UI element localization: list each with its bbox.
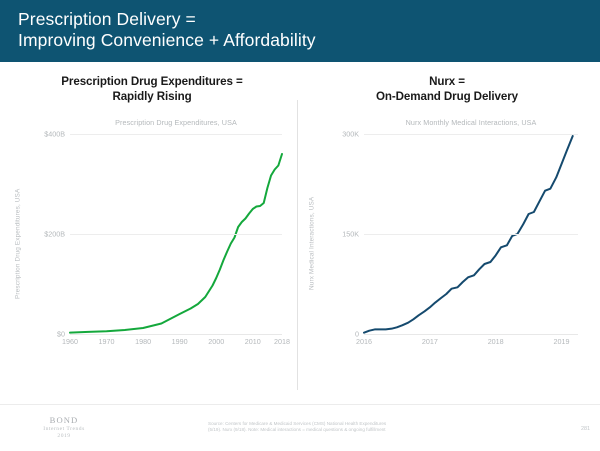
x-axis-tick: 2017 — [422, 337, 438, 346]
x-axis-tick: 2000 — [208, 337, 224, 346]
x-axis-tick: 2010 — [245, 337, 261, 346]
gridline-0 — [364, 334, 578, 335]
chart-left-caption: Prescription Drug Expenditures, USA — [70, 118, 282, 127]
slide-header: Prescription Delivery = Improving Conven… — [0, 0, 600, 62]
x-axis-tick: 2018 — [488, 337, 504, 346]
gridline-150k — [364, 234, 578, 235]
source-note-line-2: (5/19). Nurx (9/18). Note: Medical inter… — [208, 427, 508, 433]
y-axis-tick: 150K — [342, 230, 359, 239]
panel-divider — [297, 100, 298, 390]
source-note: Source: Centers for Medicare & Medicaid … — [208, 421, 508, 434]
panel-left-title: Prescription Drug Expenditures = Rapidly… — [8, 74, 296, 104]
panel-left-title-line-2: Rapidly Rising — [8, 89, 296, 104]
chart-right-y-axis-label: Nurx Medical Interactions, USA — [306, 146, 318, 341]
chart-right-caption: Nurx Monthly Medical Interactions, USA — [364, 118, 578, 127]
panel-prescription-drug-expenditures: Prescription Drug Expenditures = Rapidly… — [8, 62, 296, 392]
brand-logo: BOND Internet Trends 2019 — [18, 415, 110, 439]
gridline-400b — [70, 134, 282, 135]
x-axis-tick: 2016 — [356, 337, 372, 346]
slide-body: Prescription Drug Expenditures = Rapidly… — [0, 62, 600, 392]
y-axis-tick: $200B — [44, 230, 65, 239]
brand-subtitle: Internet Trends — [18, 426, 110, 432]
x-axis-tick: 2019 — [554, 337, 570, 346]
x-axis-tick: 1980 — [135, 337, 151, 346]
panel-right-title: Nurx = On-Demand Drug Delivery — [302, 74, 592, 104]
x-axis-tick: 1970 — [99, 337, 115, 346]
gridline-300k — [364, 134, 578, 135]
chart-prescription-drug-expenditures: Prescription Drug Expenditures, USA Pres… — [8, 118, 296, 378]
brand-year: 2019 — [18, 433, 110, 439]
x-axis-tick: 1960 — [62, 337, 78, 346]
panel-nurx-medical-interactions: Nurx = On-Demand Drug Delivery Nurx Mont… — [302, 62, 592, 392]
gridline-0 — [70, 334, 282, 335]
gridline-200b — [70, 234, 282, 235]
y-axis-tick: $400B — [44, 130, 65, 139]
chart-left-y-axis-label: Prescription Drug Expenditures, USA — [12, 146, 24, 341]
brand-name: BOND — [18, 415, 110, 425]
page-number: 281 — [581, 426, 590, 432]
panel-right-title-line-1: Nurx = — [302, 74, 592, 89]
chart-right-plot-area: 0150K300K2016201720182019 — [364, 134, 578, 334]
chart-left-plot-area: $0$200B$400B1960197019801990200020102018 — [70, 134, 282, 334]
slide-title-line-2: Improving Convenience + Affordability — [18, 30, 600, 51]
panel-right-title-line-2: On-Demand Drug Delivery — [302, 89, 592, 104]
x-axis-tick: 1990 — [172, 337, 188, 346]
panel-left-title-line-1: Prescription Drug Expenditures = — [8, 74, 296, 89]
slide-title-line-1: Prescription Delivery = — [18, 9, 600, 30]
x-axis-tick: 2018 — [274, 337, 290, 346]
chart-nurx-medical-interactions: Nurx Monthly Medical Interactions, USA N… — [302, 118, 592, 378]
slide-footer: BOND Internet Trends 2019 Source: Center… — [0, 404, 600, 451]
y-axis-tick: 300K — [342, 130, 359, 139]
